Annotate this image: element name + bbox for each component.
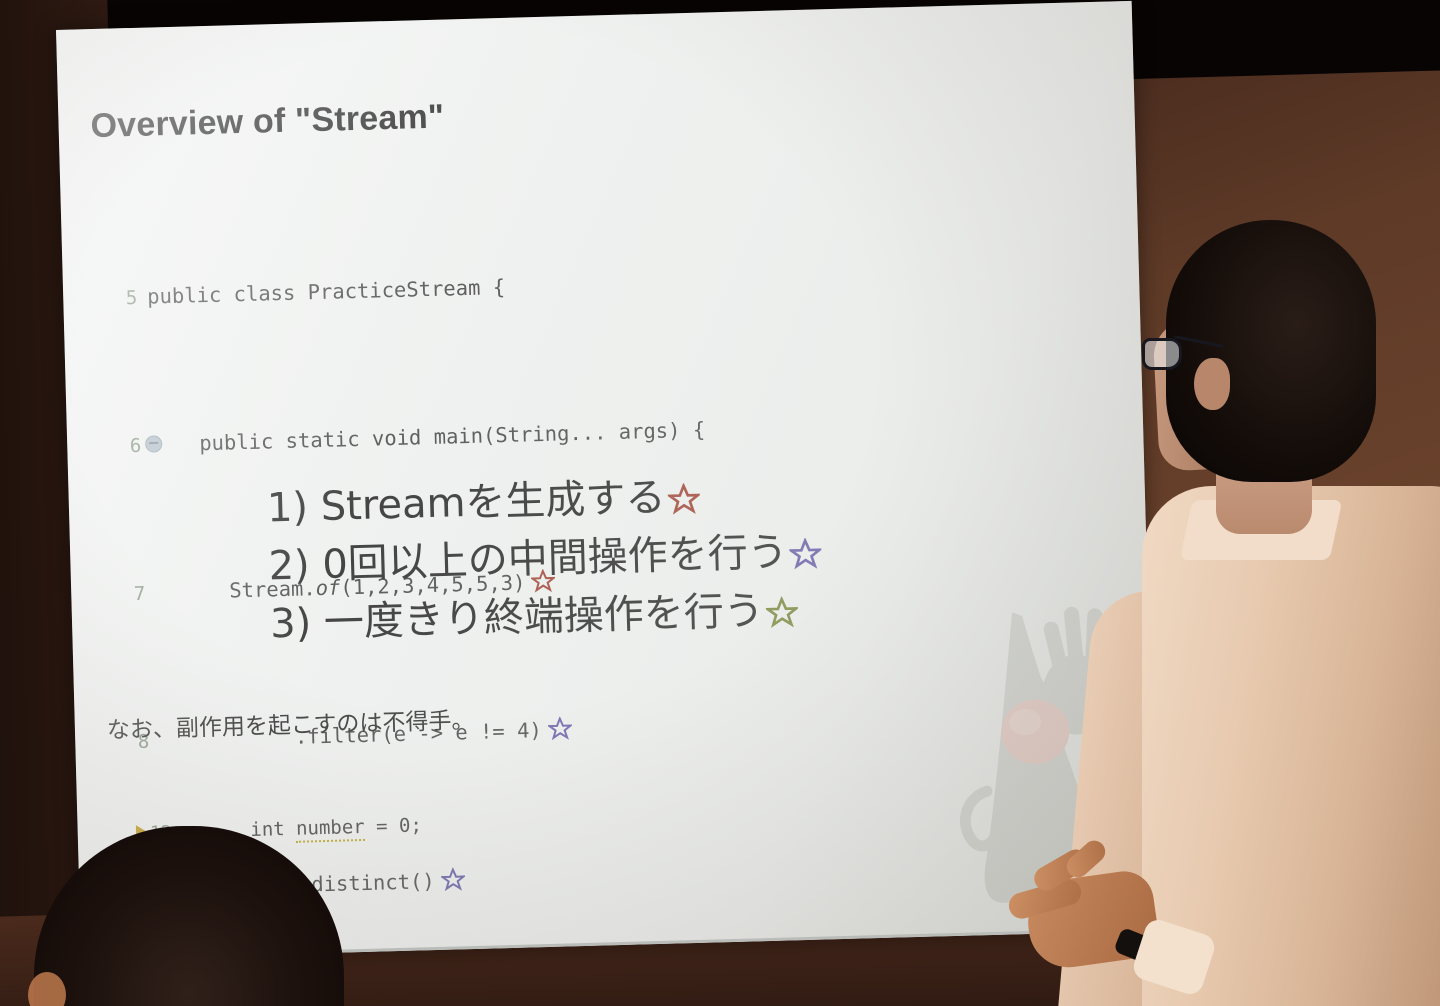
presenter-pointing-hand [998,840,1188,980]
star-blue-icon [789,537,822,570]
presenter [1120,200,1440,1006]
code-text: public class PracticeStream { [147,275,505,309]
projection-screen: Overview of "Stream" 5public class Pract… [56,1,1157,960]
bullet-text: Streamを生成する [320,475,666,530]
photo-scene: Overview of "Stream" 5public class Pract… [0,0,1440,1006]
code-line: 6 public static void main(String... args… [89,410,774,466]
star-red-icon [667,483,700,516]
line-number: 5 [85,280,148,319]
bullet-list: 1) Streamを生成する 2) 0回以上の中間操作を行う 3) 一度きり終端… [266,465,824,654]
code-line: 5public class PracticeStream { [85,262,770,318]
line-number: 6 [89,428,152,467]
bullet-index: 3) [270,600,312,647]
fold-marker-icon[interactable] [145,435,162,452]
line-number: 7 [93,576,156,615]
bullet-index: 1) [266,484,308,531]
glasses-lens [1142,338,1182,370]
star-green-icon [765,596,798,629]
bullet-index: 2) [268,542,310,589]
slide-title: Overview of "Stream" [90,98,445,147]
bullet-text: 一度きり終端操作を行う [323,588,764,646]
code-text: public static void main(String... args) … [162,418,706,457]
glasses-icon [1142,334,1206,368]
audience-ear [28,972,66,1006]
bullet-text: 0回以上の中間操作を行う [322,529,789,588]
slide-content: Overview of "Stream" 5public class Pract… [56,1,1157,960]
